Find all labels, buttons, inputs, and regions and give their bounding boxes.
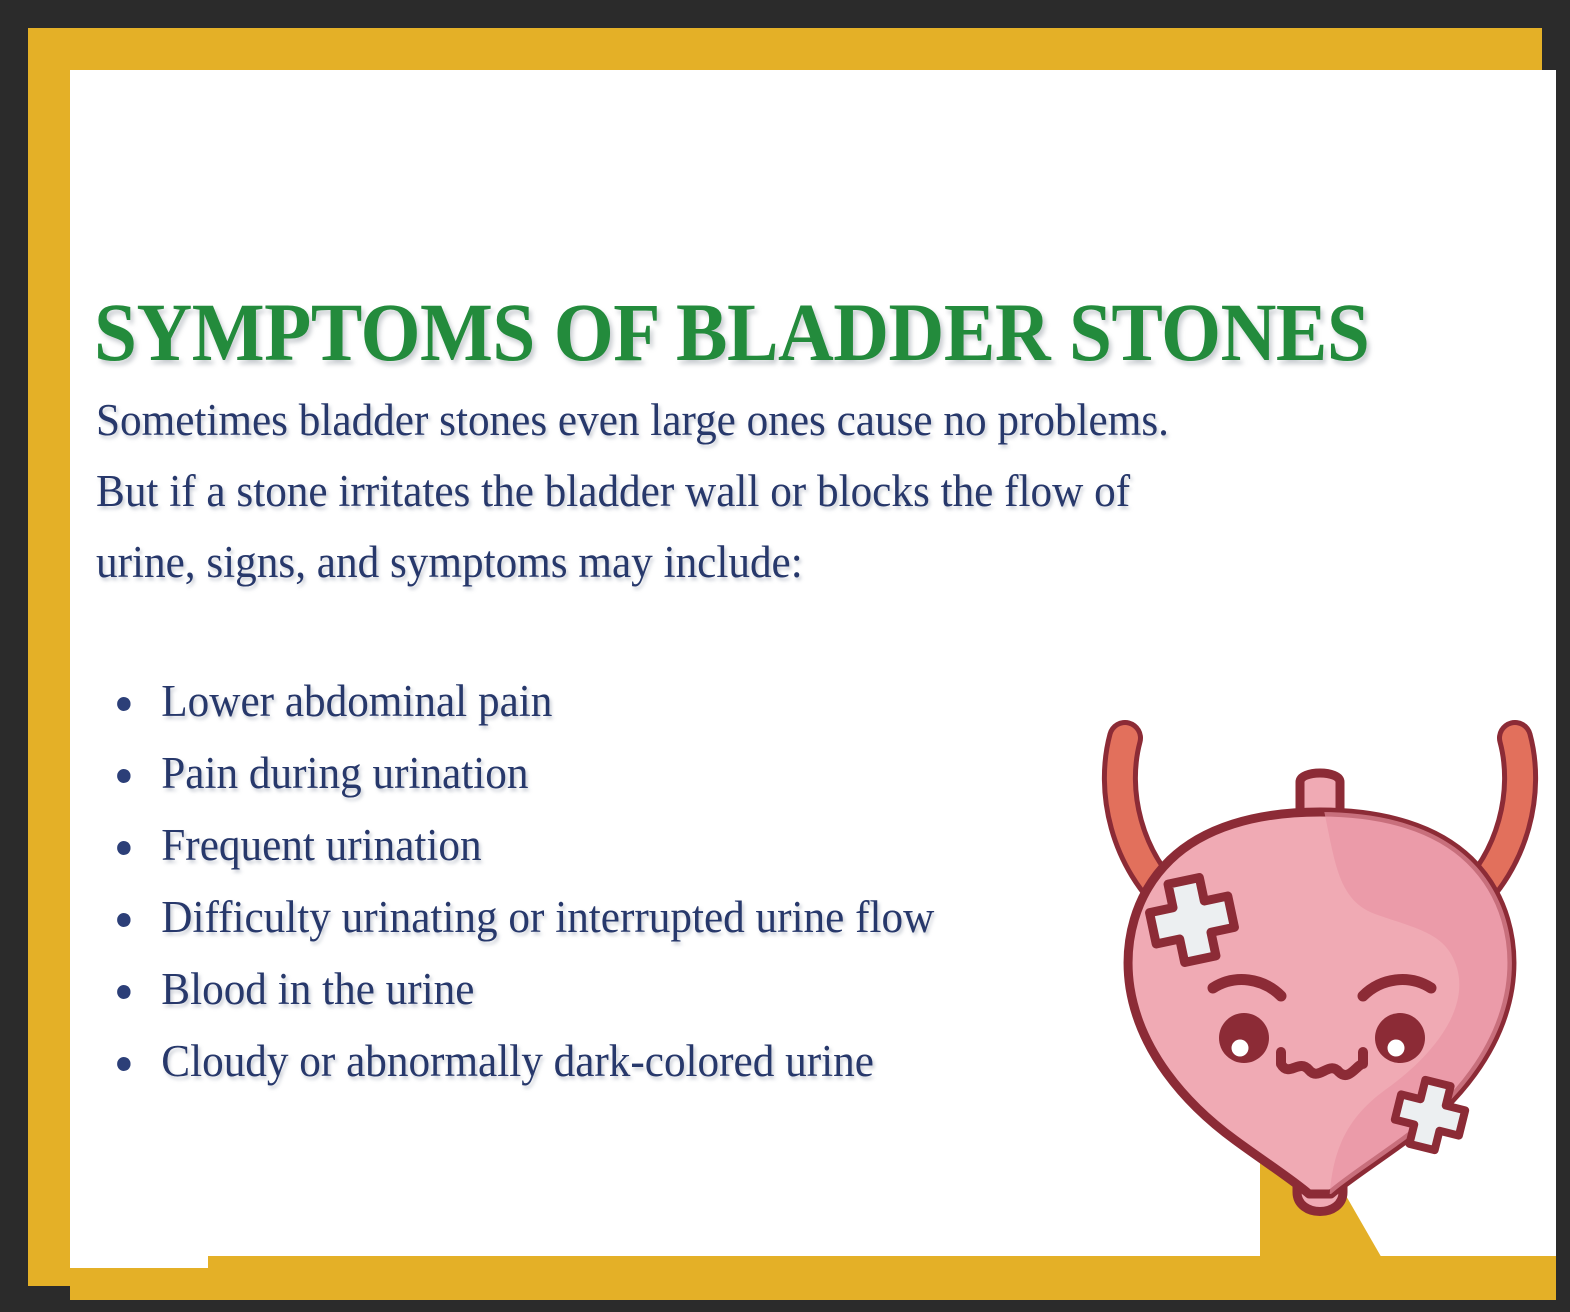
list-item: Blood in the urine <box>96 953 1162 1025</box>
list-item-label: Difficulty urinating or interrupted urin… <box>161 892 934 942</box>
bullet-dot-icon <box>117 769 130 783</box>
list-item: Frequent urination <box>96 809 1162 881</box>
intro-line-1: Sometimes bladder stones even large ones… <box>96 385 1411 456</box>
list-item-label: Cloudy or abnormally dark-colored urine <box>161 1036 874 1086</box>
poster-root: SYMPTOMS OF BLADDER STONES Sometimes bla… <box>0 0 1570 1312</box>
page-title: SYMPTOMS OF BLADDER STONES <box>94 291 1396 374</box>
list-item: Difficulty urinating or interrupted urin… <box>96 881 1162 953</box>
bullet-dot-icon <box>117 913 130 927</box>
list-item: Cloudy or abnormally dark-colored urine <box>96 1025 1162 1097</box>
sad-bladder-icon <box>1085 720 1555 1232</box>
gold-frame-border: SYMPTOMS OF BLADDER STONES Sometimes bla… <box>28 28 1542 1286</box>
intro-paragraph: Sometimes bladder stones even large ones… <box>96 385 1411 598</box>
intro-line-3: urine, signs, and symptoms may include: <box>96 527 1411 598</box>
bullet-dot-icon <box>117 1057 130 1071</box>
bullet-dot-icon <box>117 841 130 855</box>
bullet-dot-icon <box>117 697 130 711</box>
poster-card: SYMPTOMS OF BLADDER STONES Sometimes bla… <box>70 70 1556 1300</box>
list-item-label: Blood in the urine <box>161 964 474 1014</box>
list-item-label: Lower abdominal pain <box>161 676 552 726</box>
list-item: Lower abdominal pain <box>96 665 1162 737</box>
list-item-label: Frequent urination <box>161 820 481 870</box>
intro-line-2: But if a stone irritates the bladder wal… <box>96 456 1411 527</box>
list-item: Pain during urination <box>96 737 1162 809</box>
right-eye-highlight <box>1388 1040 1405 1057</box>
bullet-dot-icon <box>117 985 130 999</box>
symptom-list: Lower abdominal pain Pain during urinati… <box>96 665 1162 1097</box>
list-item-label: Pain during urination <box>161 748 528 798</box>
left-eye-highlight <box>1232 1040 1249 1057</box>
